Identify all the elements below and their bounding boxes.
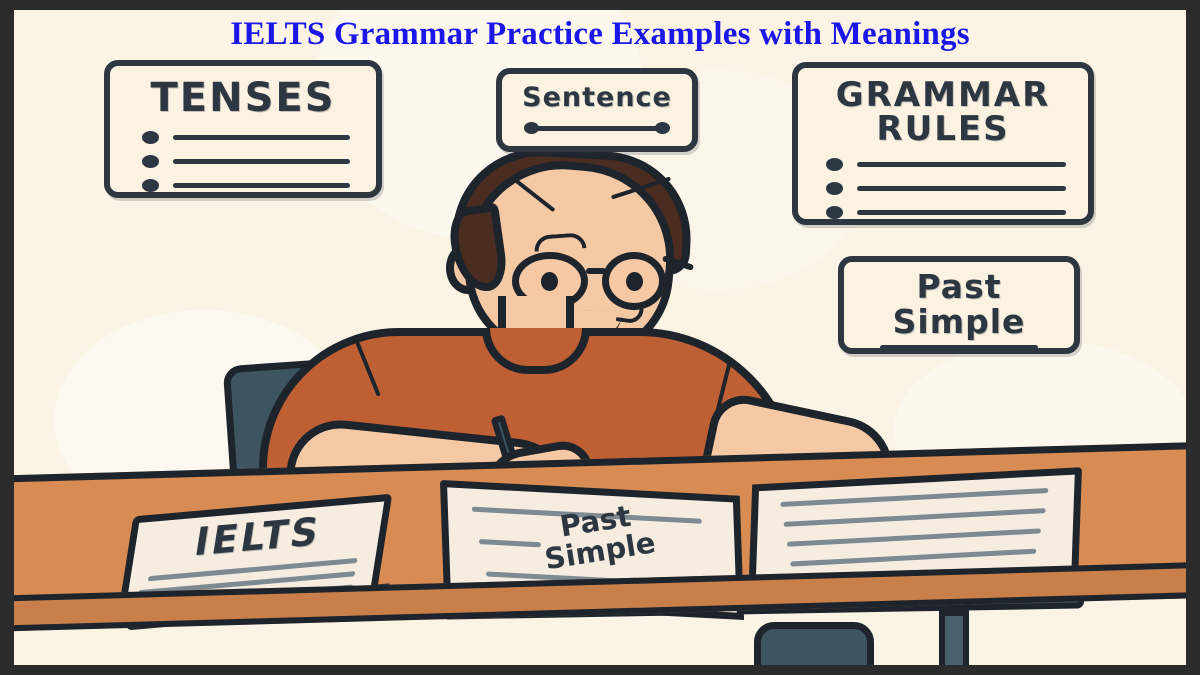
bullet-row <box>142 131 350 144</box>
chair-seat-back <box>754 622 874 665</box>
desk-leg <box>939 610 969 665</box>
bullet-line <box>173 135 350 140</box>
bullet-dot-icon <box>826 206 843 219</box>
bullet-line <box>857 186 1066 191</box>
bullet-row <box>142 179 350 192</box>
card-sentence[interactable]: Sentence <box>496 68 698 152</box>
bullet-row <box>826 158 1066 171</box>
notebook-line <box>784 508 1046 527</box>
notebook-line <box>479 539 541 547</box>
eye-right <box>626 272 643 291</box>
card-grammar-rules-title-line2: RULES <box>814 112 1072 146</box>
bullet-dot-icon <box>142 179 159 192</box>
card-tenses[interactable]: TENSES <box>104 60 382 198</box>
notebook-line <box>787 528 1041 546</box>
bullet-dot-icon <box>142 131 159 144</box>
bullet-dot-icon <box>826 158 843 171</box>
card-past-simple-title-line1: Past <box>860 270 1058 305</box>
notebook-line <box>780 488 1048 507</box>
card-past-simple-title-line2: Simple <box>860 305 1058 340</box>
card-tenses-title: TENSES <box>128 78 358 118</box>
card-grammar-rules-title-line1: GRAMMAR <box>814 78 1072 112</box>
bullet-row <box>826 206 1066 219</box>
glasses-bridge <box>586 268 606 274</box>
card-past-simple[interactable]: Past Simple <box>838 256 1080 354</box>
bullet-line <box>857 162 1066 167</box>
page-title: IELTS Grammar Practice Examples with Mea… <box>14 16 1186 53</box>
bullet-row <box>142 155 350 168</box>
sentence-dot-left-icon <box>524 122 539 134</box>
card-grammar-rules[interactable]: GRAMMAR RULES <box>792 62 1094 225</box>
sentence-diagram <box>524 122 670 134</box>
illustration-canvas: IELTS Past Simple <box>14 10 1186 665</box>
eye-left <box>541 272 558 291</box>
sentence-bar <box>530 126 664 131</box>
sentence-dot-right-icon <box>655 122 670 134</box>
card-past-simple-underline <box>880 345 1038 350</box>
card-tenses-bullets <box>128 131 358 192</box>
card-grammar-rules-bullets <box>814 158 1072 219</box>
bullet-dot-icon <box>826 182 843 195</box>
image-frame: IELTS Past Simple <box>0 0 1200 675</box>
bullet-row <box>826 182 1066 195</box>
card-sentence-title: Sentence <box>518 84 676 111</box>
bullet-dot-icon <box>142 155 159 168</box>
bullet-line <box>857 210 1066 215</box>
bullet-line <box>173 159 350 164</box>
notebook-line <box>790 549 1036 567</box>
bullet-line <box>173 183 350 188</box>
